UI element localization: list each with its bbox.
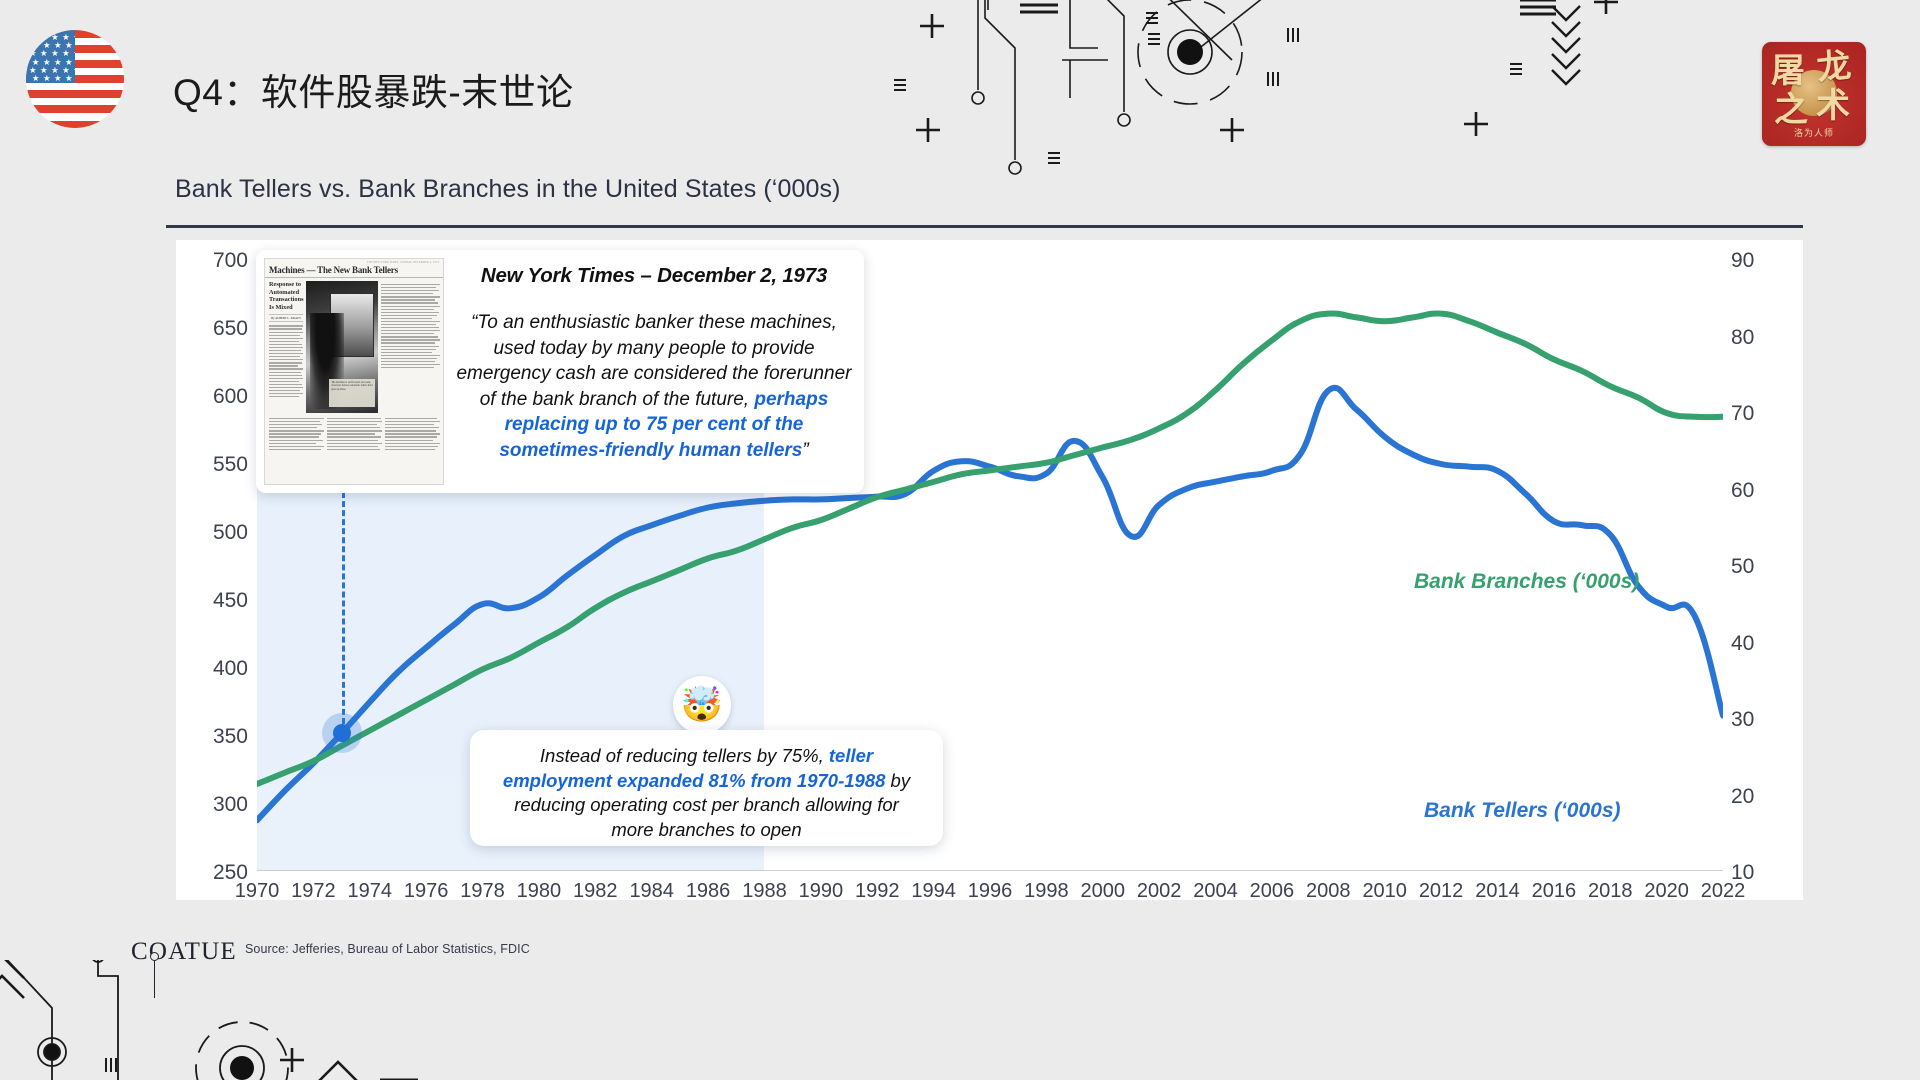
x-axis-tick: 1986 <box>686 880 731 903</box>
x-axis-tick: 2014 <box>1475 880 1520 903</box>
y-left-tick: 550 <box>178 454 248 475</box>
clipping-text-lines-right <box>381 284 440 368</box>
nyt-quote-callout: THE NEW YORK TIMES, SUNDAY, DECEMBER 2, … <box>256 250 864 493</box>
newspaper-clipping-image: THE NEW YORK TIMES, SUNDAY, DECEMBER 2, … <box>264 258 444 485</box>
us-flag-icon: ★ ★ ★ ★ ★ ★ ★ ★ ★ ★ ★ ★ ★ ★ ★ ★ ★ ★ ★ ★ … <box>26 30 124 128</box>
y-right-tick: 80 <box>1731 327 1801 348</box>
x-axis-tick: 1990 <box>799 880 844 903</box>
x-axis-tick: 1980 <box>517 880 562 903</box>
x-axis-tick: 1974 <box>348 880 393 903</box>
y-axis-right: 908070605040302010 <box>1731 240 1801 900</box>
brand-logo: 屠 龙 之 术 洛为人师 <box>1762 42 1866 146</box>
x-axis-tick: 1988 <box>742 880 787 903</box>
x-axis-tick: 2020 <box>1644 880 1689 903</box>
x-axis-tick: 2016 <box>1532 880 1577 903</box>
clipping-photo: The machine is self-fronted, but some ob… <box>306 281 378 413</box>
x-axis-tick: 2000 <box>1081 880 1126 903</box>
y-left-tick: 650 <box>178 318 248 339</box>
crossover-point-marker <box>333 724 351 742</box>
x-axis-tick: 1970 <box>235 880 280 903</box>
y-left-tick: 450 <box>178 590 248 611</box>
y-right-tick: 90 <box>1731 250 1801 271</box>
nyt-source-line: New York Times – December 2, 1973 <box>454 264 854 288</box>
x-axis-tick: 2004 <box>1193 880 1238 903</box>
brand-char-1: 屠 <box>1771 55 1805 89</box>
nyt-quote-text: “To an enthusiastic banker these machine… <box>454 310 854 463</box>
coatue-stem-line <box>154 960 155 998</box>
x-axis-tick: 1996 <box>968 880 1013 903</box>
y-right-tick: 50 <box>1731 556 1801 577</box>
y-left-tick: 400 <box>178 658 248 679</box>
photo-caption: The machine is self-fronted, but some ob… <box>329 379 375 407</box>
header-divider <box>166 225 1803 228</box>
x-axis-tick: 2006 <box>1250 880 1295 903</box>
y-right-tick: 60 <box>1731 480 1801 501</box>
circuit-decoration-bottom <box>0 960 540 1080</box>
mind-blown-emoji-icon: 🤯 <box>673 676 731 734</box>
brand-char-2: 龙 <box>1815 49 1852 86</box>
x-axis-tick: 2010 <box>1362 880 1407 903</box>
y-right-tick: 40 <box>1731 633 1801 654</box>
x-axis-tick: 2002 <box>1137 880 1182 903</box>
x-axis-tick: 2018 <box>1588 880 1633 903</box>
x-axis-tick: 1984 <box>629 880 674 903</box>
x-axis-tick: 1978 <box>460 880 505 903</box>
coatue-logo: COATUE <box>131 938 237 966</box>
nyt-text-block: New York Times – December 2, 1973 “To an… <box>454 258 854 485</box>
x-axis-tick: 2012 <box>1419 880 1464 903</box>
clipping-footer-col-3 <box>385 418 440 452</box>
x-axis-tick: 2022 <box>1701 880 1746 903</box>
y-left-tick: 700 <box>178 250 248 271</box>
slide-canvas: ★ ★ ★ ★ ★ ★ ★ ★ ★ ★ ★ ★ ★ ★ ★ ★ ★ ★ ★ ★ … <box>0 0 1920 1080</box>
y-left-tick: 350 <box>178 726 248 747</box>
x-axis-tick: 1976 <box>404 880 449 903</box>
source-note: Source: Jefferies, Bureau of Labor Stati… <box>245 942 530 956</box>
x-axis: 1970197219741976197819801982198419861988… <box>257 880 1723 920</box>
x-axis-tick: 1982 <box>573 880 618 903</box>
y-left-tick: 500 <box>178 522 248 543</box>
x-axis-tick: 2008 <box>1306 880 1351 903</box>
clipping-byline: By ALBERT L. KRAUS <box>269 314 303 322</box>
insight-part-1: Instead of reducing tellers by 75%, <box>540 745 829 766</box>
coatue-wordmark: COATUE <box>131 938 237 965</box>
series-label-tellers: Bank Tellers (‘000s) <box>1424 799 1621 823</box>
clipping-headline: Machines — The New Bank Tellers <box>265 264 443 278</box>
y-right-tick: 70 <box>1731 403 1801 424</box>
x-axis-tick: 1994 <box>911 880 956 903</box>
clipping-footer-col-1 <box>269 418 324 452</box>
insight-text: Instead of reducing tellers by 75%, tell… <box>492 744 921 842</box>
clipping-subhead: Response to Automated Transactions Is Mi… <box>269 281 303 311</box>
y-right-tick: 20 <box>1731 786 1801 807</box>
circuit-decoration-top <box>880 0 1640 230</box>
x-axis-tick: 1972 <box>291 880 336 903</box>
page-title: Q4：软件股暴跌-末世论 <box>173 62 574 116</box>
series-label-branches: Bank Branches (‘000s) <box>1414 570 1639 594</box>
marker-line-1973 <box>342 483 345 733</box>
y-left-tick: 300 <box>178 794 248 815</box>
chart-subtitle: Bank Tellers vs. Bank Branches in the Un… <box>175 175 841 204</box>
clipping-text-lines <box>269 325 303 397</box>
y-left-tick: 600 <box>178 386 248 407</box>
brand-char-3: 之 <box>1774 94 1808 128</box>
quote-part-2: ” <box>802 440 808 461</box>
insight-callout: Instead of reducing tellers by 75%, tell… <box>470 730 943 846</box>
y-axis-left: 700650600550500450400350300250 <box>178 240 248 900</box>
x-axis-tick: 1998 <box>1024 880 1069 903</box>
brand-tagline: 洛为人师 <box>1762 126 1866 139</box>
brand-char-4: 术 <box>1816 90 1850 124</box>
clipping-footer-col-2 <box>327 418 382 452</box>
x-axis-tick: 1992 <box>855 880 900 903</box>
y-right-tick: 30 <box>1731 709 1801 730</box>
